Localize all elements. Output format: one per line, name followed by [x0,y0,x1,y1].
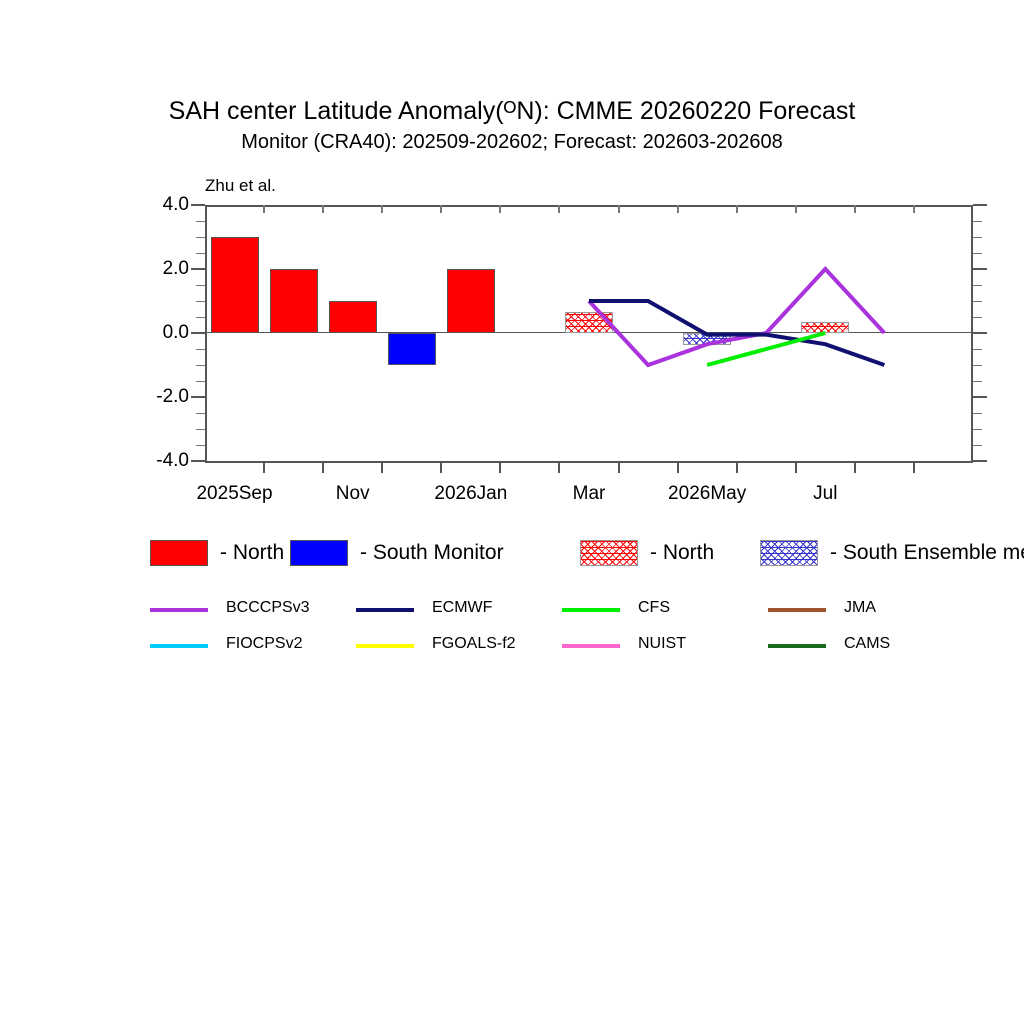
y-tick-minor [196,381,205,382]
y-tick-major-right [973,460,987,462]
y-tick-minor [196,365,205,366]
legend-model-label: JMA [844,599,876,617]
chart-title-block: SAH center Latitude Anomaly(ᴼN): CMME 20… [0,96,1024,155]
y-tick-minor [196,445,205,446]
legend-swatch-2 [580,540,638,566]
x-tick-label: 2026Jan [434,483,507,505]
legend-monitor-ensemble: - North- South Monitor- North- South Ens… [150,538,1024,570]
y-tick-major-right [973,332,987,334]
y-tick-label: 0.0 [163,322,189,344]
y-tick-minor [196,301,205,302]
y-tick-minor [196,285,205,286]
chart-page: SAH center Latitude Anomaly(ᴼN): CMME 20… [0,0,1024,1024]
y-tick-minor [196,413,205,414]
y-tick-major-right [973,268,987,270]
legend-model-line-icon [150,608,208,612]
legend-swatch-1 [290,540,348,566]
y-tick-minor-right [973,413,982,414]
legend-label-2: - North [650,541,714,565]
credit-label: Zhu et al. [205,176,276,196]
legend-model-line-icon [562,644,620,648]
plot-area: 4.02.00.0-2.0-4.0 2025SepNov2026JanMar20… [205,205,973,463]
y-tick-minor [196,349,205,350]
legend-swatch-0 [150,540,208,566]
y-tick-minor-right [973,349,982,350]
y-tick-label: -2.0 [156,386,189,408]
y-tick-major [191,204,205,206]
x-tick-label: Mar [573,483,606,505]
legend-model-label: FGOALS-f2 [432,635,516,653]
legend-model-label: NUIST [638,635,686,653]
y-tick-minor-right [973,445,982,446]
y-tick-minor-right [973,365,982,366]
y-tick-minor-right [973,381,982,382]
legend-label-3: - South Ensemble mean [830,541,1024,565]
y-tick-minor-right [973,253,982,254]
y-tick-label: 4.0 [163,194,189,216]
legend-model-line-icon [356,608,414,612]
y-tick-minor [196,429,205,430]
y-tick-minor [196,237,205,238]
legend-swatch-3 [760,540,818,566]
y-tick-minor-right [973,285,982,286]
y-tick-major [191,396,205,398]
forecast-lines [205,205,973,463]
x-tick-label: 2025Sep [196,483,272,505]
legend-model-line-icon [562,608,620,612]
legend-model-line-icon [150,644,208,648]
x-tick-label: Nov [336,483,370,505]
y-tick-label: 2.0 [163,258,189,280]
y-tick-minor [196,253,205,254]
y-tick-major [191,268,205,270]
x-tick-label: 2026May [668,483,746,505]
y-tick-major-right [973,204,987,206]
y-tick-minor-right [973,301,982,302]
y-tick-minor [196,317,205,318]
page-title: SAH center Latitude Anomaly(ᴼN): CMME 20… [0,96,1024,126]
legend-model-label: BCCCPSv3 [226,599,310,617]
y-tick-minor-right [973,317,982,318]
y-tick-major-right [973,396,987,398]
legend-label-1: - South Monitor [360,541,504,565]
legend-model-label: CAMS [844,635,890,653]
chart-subtitle: Monitor (CRA40): 202509-202602; Forecast… [0,129,1024,155]
y-tick-major [191,332,205,334]
legend-model-line-icon [768,608,826,612]
y-tick-minor [196,221,205,222]
legend-model-label: ECMWF [432,599,492,617]
y-tick-major [191,460,205,462]
legend-label-0: - North [220,541,284,565]
y-tick-minor-right [973,237,982,238]
legend-model-line-icon [768,644,826,648]
y-tick-minor-right [973,221,982,222]
y-tick-label: -4.0 [156,450,189,472]
legend-model-label: CFS [638,599,670,617]
x-tick-label: Jul [813,483,837,505]
y-tick-minor-right [973,429,982,430]
legend-model-label: FIOCPSv2 [226,635,302,653]
legend-model-line-icon [356,644,414,648]
series-line-cfs [707,333,825,365]
